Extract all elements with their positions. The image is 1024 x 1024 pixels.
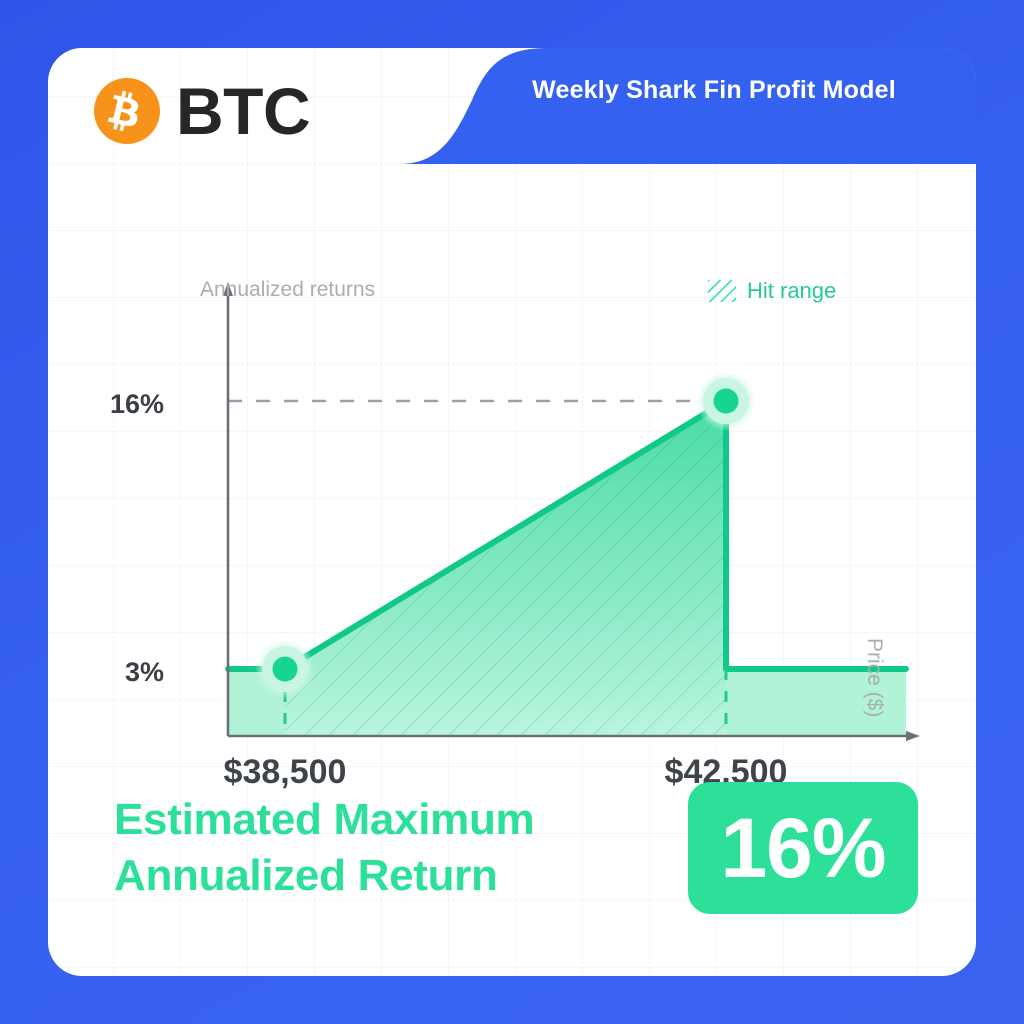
brand-block: BTC (94, 78, 310, 144)
brand-symbol: BTC (176, 78, 310, 144)
y-tick-16: 16% (84, 391, 164, 418)
result-footer: Estimated Maximum Annualized Return 16% (48, 768, 976, 928)
y-tick-3: 3% (84, 659, 164, 686)
hatch-swatch-icon (708, 280, 736, 302)
bitcoin-icon (94, 78, 160, 144)
result-caption-line2: Annualized Return (114, 848, 534, 904)
chart-canvas (48, 198, 976, 818)
result-caption: Estimated Maximum Annualized Return (114, 792, 534, 905)
content-card: BTC Weekly Shark Fin Profit Model (48, 48, 976, 976)
y-axis-label: Annualized returns (200, 278, 375, 302)
result-badge: 16% (688, 782, 918, 914)
chart-legend: Hit range (708, 278, 836, 304)
header-title: Weekly Shark Fin Profit Model (464, 78, 964, 103)
infographic-canvas: BTC Weekly Shark Fin Profit Model (0, 0, 1024, 1024)
x-axis-label: Price ($) (862, 638, 886, 717)
legend-label-hit-range: Hit range (747, 278, 836, 304)
result-caption-line1: Estimated Maximum (114, 792, 534, 848)
payoff-chart: Annualized returns Price ($) 16% 3% $38,… (48, 198, 976, 818)
result-value: 16% (720, 806, 885, 890)
